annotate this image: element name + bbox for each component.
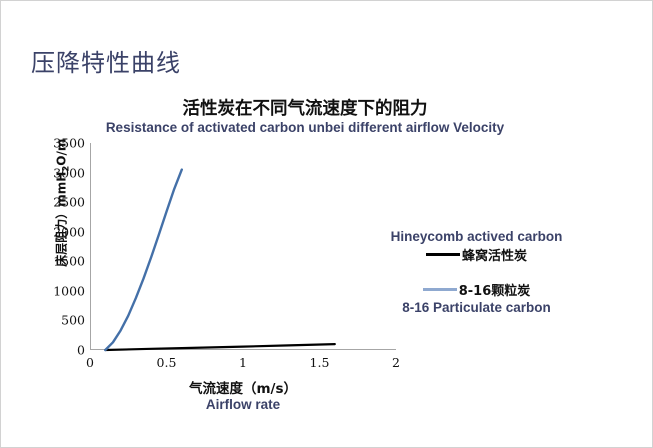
slide-title: 压降特性曲线 [31, 43, 181, 78]
series-line [105, 170, 182, 350]
legend-item-particulate[interactable]: 8-16颗粒炭 [369, 280, 584, 299]
y-axis-tick-label: 2500 [41, 195, 85, 210]
y-axis-tick-label: 1500 [41, 254, 85, 269]
y-axis-tick-label: 3000 [41, 165, 85, 180]
chart-legend: Hineycomb actived carbon 蜂窝活性炭 8-16颗粒炭 8… [369, 229, 584, 315]
y-axis-tick-label: 500 [41, 313, 85, 328]
x-axis-title-en: Airflow rate [93, 397, 393, 412]
y-axis-tick-label: 1000 [41, 283, 85, 298]
x-axis-title: 气流速度（m/s） [93, 377, 393, 397]
slide-canvas: 压降特性曲线 活性炭在不同气流速度下的阻力 Resistance of acti… [0, 0, 653, 448]
y-axis-tick-labels: 0500100015002000250030003500 [37, 143, 85, 350]
x-axis-tick-label: 1.5 [300, 355, 340, 370]
legend-swatch-honeycomb-icon [426, 253, 460, 256]
series-plot [90, 143, 396, 350]
legend-label-honeycomb-en: Hineycomb actived carbon [369, 229, 584, 244]
legend-label-particulate-cn: 8-16颗粒炭 [459, 280, 531, 299]
series-line [105, 344, 334, 350]
x-axis-tick-labels: 00.511.52 [90, 355, 410, 373]
y-axis-tick-label: 3500 [41, 136, 85, 151]
legend-label-honeycomb-cn: 蜂窝活性炭 [462, 245, 527, 264]
chart-subtitle: Resistance of activated carbon unbei dif… [65, 120, 545, 135]
legend-label-particulate-en: 8-16 Particulate carbon [369, 300, 584, 315]
x-axis-tick-label: 2 [376, 355, 416, 370]
plot-area [90, 143, 396, 350]
chart-title: 活性炭在不同气流速度下的阻力 [125, 95, 485, 120]
x-axis-tick-label: 1 [223, 355, 263, 370]
x-axis-tick-label: 0 [70, 355, 110, 370]
legend-spacer [369, 265, 584, 279]
legend-item-honeycomb[interactable]: 蜂窝活性炭 [369, 245, 584, 264]
x-axis-tick-label: 0.5 [147, 355, 187, 370]
y-axis-tick-label: 2000 [41, 224, 85, 239]
chart-container: 活性炭在不同气流速度下的阻力 Resistance of activated c… [29, 89, 589, 409]
legend-swatch-particulate-icon [423, 288, 457, 291]
